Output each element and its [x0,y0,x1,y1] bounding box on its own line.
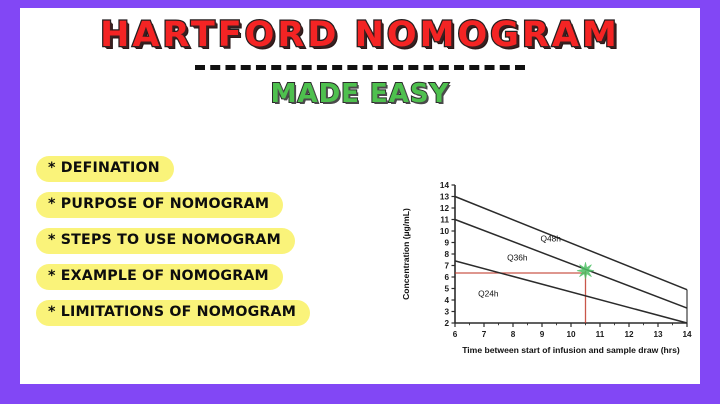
nomogram-chart: 23456789101112131467891011121314Time bet… [395,173,695,363]
y-tick-label: 13 [440,193,450,202]
list-item: * EXAMPLE OF NOMOGRAM [36,264,386,300]
y-tick-label: 14 [440,181,450,190]
slide-canvas: HARTFORD NOMOGRAM MADE EASY * DEFINATION… [20,8,700,384]
bullet-item-steps[interactable]: * STEPS TO USE NOMOGRAM [36,228,295,254]
y-tick-label: 12 [440,204,450,213]
x-axis-label: Time between start of infusion and sampl… [462,345,680,355]
x-tick-label: 14 [682,330,692,339]
y-tick-label: 9 [444,239,449,248]
sample-point-star [577,262,594,279]
list-item: * DEFINATION [36,156,386,192]
bullet-item-defination[interactable]: * DEFINATION [36,156,174,182]
x-tick-label: 9 [540,330,545,339]
x-tick-label: 8 [511,330,516,339]
series-label-q48h: Q48h [540,233,561,243]
y-tick-label: 3 [444,308,449,317]
nomogram-chart-svg: 23456789101112131467891011121314Time bet… [395,173,695,363]
y-axis-label: Concentration (µg/mL) [401,208,411,300]
bullet-item-example[interactable]: * EXAMPLE OF NOMOGRAM [36,264,283,290]
y-tick-label: 8 [444,250,449,259]
series-label-q36h: Q36h [507,252,528,262]
list-item: * STEPS TO USE NOMOGRAM [36,228,386,264]
y-tick-label: 6 [444,273,449,282]
y-tick-label: 2 [444,319,449,328]
x-tick-label: 11 [596,330,605,339]
list-item: * LIMITATIONS OF NOMOGRAM [36,300,386,336]
page-title: HARTFORD NOMOGRAM [20,14,700,56]
x-tick-label: 13 [653,330,663,339]
list-item: * PURPOSE OF NOMOGRAM [36,192,386,228]
series-label-q24h: Q24h [478,289,499,299]
x-tick-label: 7 [482,330,487,339]
title-block: HARTFORD NOMOGRAM MADE EASY [20,14,700,109]
y-tick-label: 7 [444,262,449,271]
x-tick-label: 12 [624,330,634,339]
subtitle: MADE EASY [20,79,700,109]
title-divider [195,65,525,70]
series-line-q48h [455,197,687,290]
y-tick-label: 10 [440,227,450,236]
y-tick-label: 4 [444,296,449,305]
slide-frame: HARTFORD NOMOGRAM MADE EASY * DEFINATION… [0,0,720,404]
x-tick-label: 10 [566,330,576,339]
bullet-item-purpose[interactable]: * PURPOSE OF NOMOGRAM [36,192,283,218]
y-tick-label: 5 [444,285,449,294]
bullet-item-limitations[interactable]: * LIMITATIONS OF NOMOGRAM [36,300,310,326]
y-tick-label: 11 [440,216,449,225]
x-tick-label: 6 [453,330,458,339]
bullet-list: * DEFINATION * PURPOSE OF NOMOGRAM * STE… [36,156,386,336]
